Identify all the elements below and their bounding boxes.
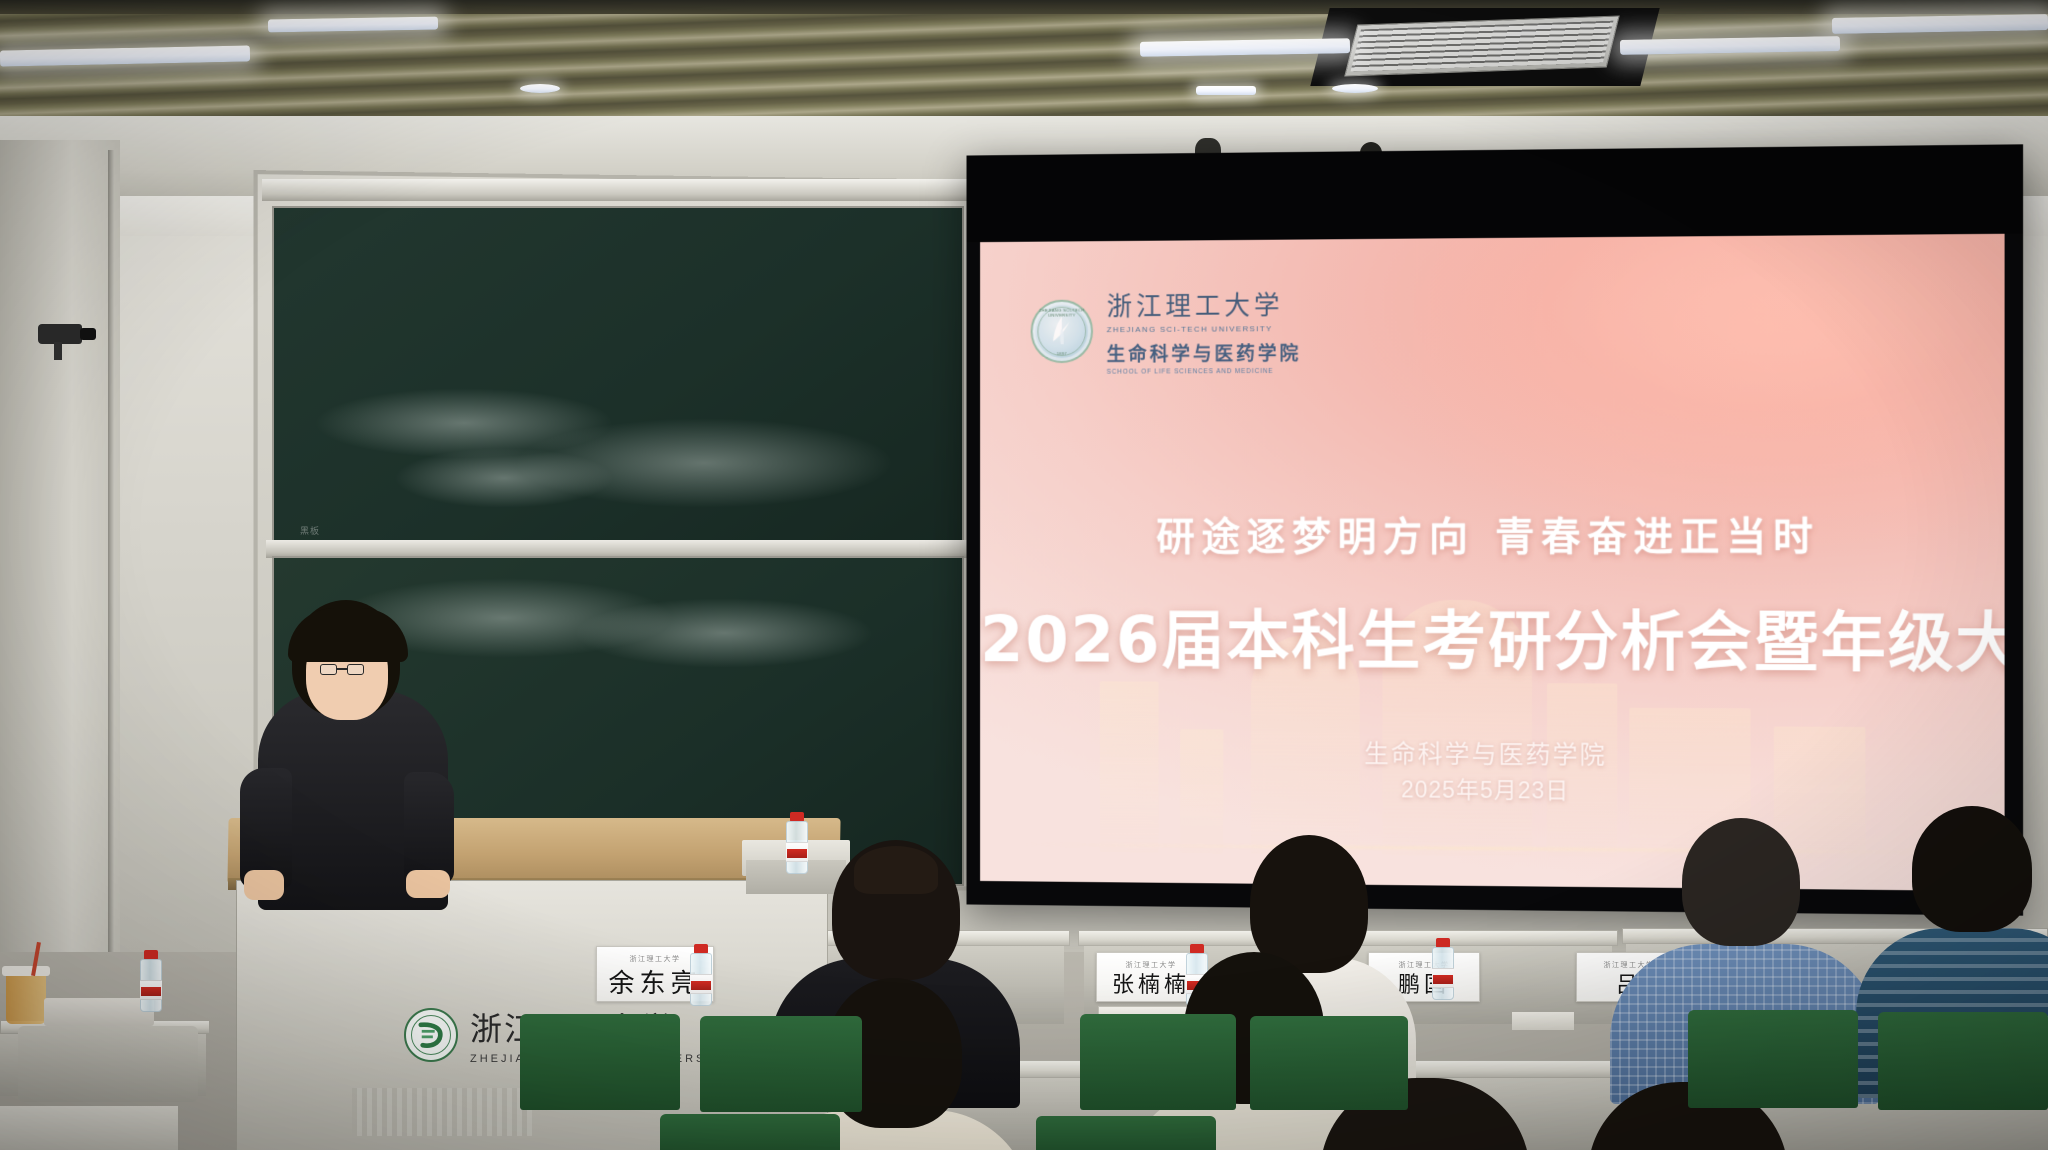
paper-sheet (1512, 1012, 1574, 1030)
slide-college-name-cn: 生命科学与医药学院 (1107, 339, 1302, 367)
chair-foreground (18, 1026, 198, 1102)
speaker-right-arm (404, 772, 454, 884)
university-crest-icon: ZHEJIANG SCI-TECH UNIVERSITY 1897 (1031, 300, 1093, 364)
security-camera-icon (38, 322, 98, 348)
projection-screen: ZHEJIANG SCI-TECH UNIVERSITY 1897 浙江理工大学… (967, 144, 2024, 915)
chair (1080, 1014, 1236, 1110)
lecture-hall-photo: 黑板 ZHEJIANG SCI-TECH UNIVERSITY (0, 0, 2048, 1150)
chair (660, 1114, 840, 1150)
crest-bottom-text: 1897 (1033, 351, 1091, 356)
ceiling-light-spot (1196, 86, 1256, 95)
blackboard-label: 黑板 (300, 524, 320, 537)
ceiling-downlight (520, 84, 560, 93)
slide-title: 2026届本科生考研分析会暨年级大会 (980, 589, 2004, 684)
water-bottle (140, 950, 162, 1012)
chair (1250, 1016, 1408, 1110)
name-card-subtitle: 浙江理工大学 (630, 954, 681, 964)
slide-slogan: 研途逐梦明方向 青春奋进正当时 (980, 506, 2004, 563)
speaker-person (258, 608, 448, 908)
water-bottle (1432, 938, 1454, 1000)
podium-crest-mark-icon (406, 1010, 456, 1060)
podium-vent-grille (352, 1088, 532, 1136)
screen-top-masking (967, 144, 2024, 242)
chair (520, 1014, 680, 1110)
speaker-right-hand (406, 870, 450, 898)
drink-cup-lid (2, 966, 50, 976)
ceiling-downlight (1332, 84, 1378, 93)
wall-seam (108, 150, 114, 1020)
air-conditioner-vent-icon (1344, 15, 1620, 76)
slide-college-name-en: SCHOOL OF LIFE SCIENCES AND MEDICINE (1107, 368, 1302, 376)
wall-left-column (0, 140, 120, 1020)
chair-foreground-seat (0, 1106, 178, 1150)
speaker-fringe (288, 608, 408, 662)
chair (700, 1016, 862, 1112)
slide-university-name-cn: 浙江理工大学 (1107, 285, 1302, 323)
crest-bird-icon (1047, 313, 1076, 347)
podium-crest-icon (404, 1008, 458, 1062)
slide-university-name-en: ZHEJIANG SCI-TECH UNIVERSITY (1107, 324, 1302, 334)
paper-stack (44, 998, 154, 1026)
audience-4-hair (1912, 806, 2032, 932)
name-card-name: 余东亮 (608, 971, 701, 997)
ceiling-dark-strip (0, 0, 2048, 14)
chair (1688, 1010, 1858, 1108)
drink-cup (6, 972, 46, 1024)
speaker-left-hand (244, 870, 284, 900)
slide-subtitle: 生命科学与医药学院 2025年5月23日 (980, 735, 2004, 810)
audience-3-hair (1682, 818, 1800, 946)
blackboard-top-rail (262, 179, 974, 201)
speaker-glasses-icon (320, 664, 364, 675)
chair (1036, 1116, 1216, 1150)
chair (1878, 1012, 2048, 1110)
blackboard-upper-panel (272, 206, 964, 546)
slide-logo-lockup: ZHEJIANG SCI-TECH UNIVERSITY 1897 浙江理工大学… (1031, 285, 1302, 376)
water-bottle (690, 944, 712, 1006)
presentation-slide: ZHEJIANG SCI-TECH UNIVERSITY 1897 浙江理工大学… (980, 234, 2004, 891)
audience-1-hair-top (854, 846, 938, 894)
